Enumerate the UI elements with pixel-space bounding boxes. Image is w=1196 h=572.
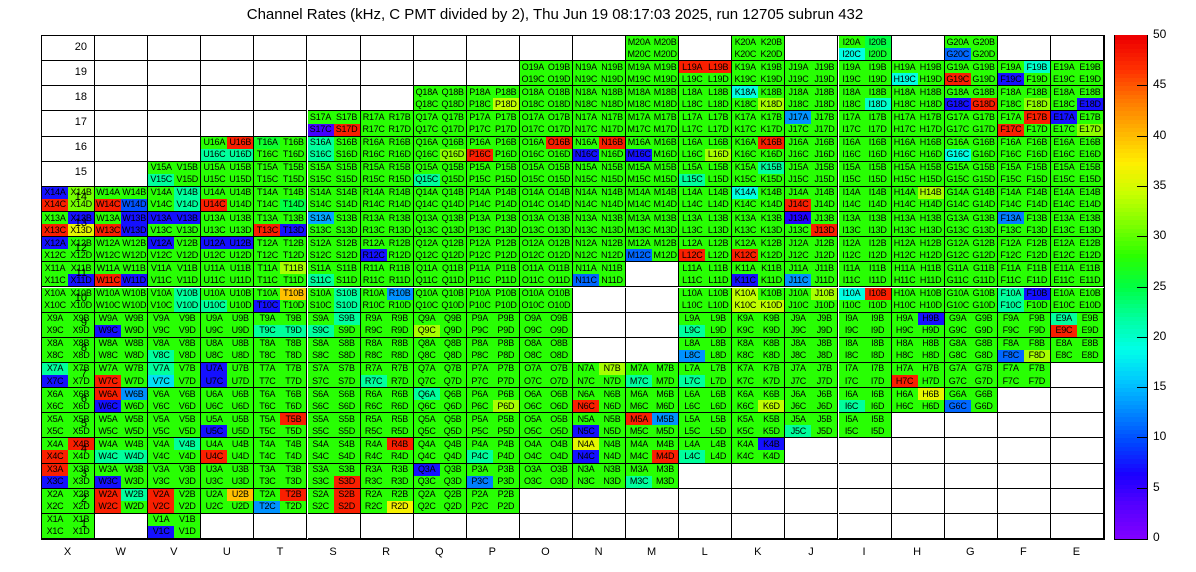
channel-S3A: S3A	[308, 464, 334, 476]
heatmap-cell-Q10: Q10AQ10BQ10CQ10D	[414, 288, 467, 313]
channel-P2C: P2C	[467, 501, 493, 513]
channel-G18B: G18B	[971, 86, 997, 98]
channel-K20D: K20D	[758, 48, 784, 60]
channel-T8D: T8D	[280, 350, 306, 362]
channel-K18B: K18B	[758, 86, 784, 98]
heatmap-cell-S15: S15AS15BS15CS15D	[308, 162, 361, 187]
channel-I19C: I19C	[839, 73, 865, 85]
heatmap-cell-S11: S11AS11BS11CS11D	[308, 262, 361, 287]
channel-O7A: O7A	[520, 363, 546, 375]
heatmap-cell-F6	[998, 388, 1051, 413]
channel-E9A: E9A	[1051, 313, 1077, 325]
channel-F13C: F13C	[998, 224, 1024, 236]
channel-W7D: W7D	[121, 375, 147, 387]
channel-M13D: M13D	[652, 224, 678, 236]
x-axis-tick-J: J	[784, 546, 837, 558]
channel-O15C: O15C	[520, 174, 546, 186]
channel-U5D: U5D	[227, 425, 253, 437]
channel-J10B: J10B	[811, 288, 837, 300]
channel-J13B: J13B	[811, 212, 837, 224]
channel-H15B: H15B	[918, 162, 944, 174]
heatmap-cell-O14: O14AO14BO14CO14D	[520, 187, 573, 212]
channel-I19D: I19D	[865, 73, 891, 85]
channel-K18A: K18A	[732, 86, 758, 98]
channel-Q2B: Q2B	[440, 489, 466, 501]
channel-U7B: U7B	[227, 363, 253, 375]
channel-E13A: E13A	[1051, 212, 1077, 224]
channel-L4D: L4D	[705, 450, 731, 462]
channel-O16C: O16C	[520, 149, 546, 161]
channel-T2B: T2B	[280, 489, 306, 501]
channel-S8A: S8A	[308, 338, 334, 350]
channel-J7B: J7B	[811, 363, 837, 375]
channel-I13B: I13B	[865, 212, 891, 224]
heatmap-cell-R18	[361, 86, 414, 111]
channel-I11C: I11C	[839, 274, 865, 286]
y-axis-tick-9: 9	[57, 317, 87, 329]
colorbar-tick	[1137, 337, 1148, 338]
channel-U7C: U7C	[201, 375, 227, 387]
channel-J6C: J6C	[785, 400, 811, 412]
channel-P15A: P15A	[467, 162, 493, 174]
heatmap-cell-H11: H11AH11BH11CH11D	[892, 262, 945, 287]
channel-U12B: U12B	[227, 237, 253, 249]
channel-Q5D: Q5D	[440, 425, 466, 437]
channel-K11C: K11C	[732, 274, 758, 286]
channel-G14D: G14D	[971, 199, 997, 211]
channel-O3D: O3D	[546, 476, 572, 488]
channel-F17C: F17C	[998, 124, 1024, 136]
channel-T9B: T9B	[280, 313, 306, 325]
channel-W4A: W4A	[95, 438, 121, 450]
heatmap-cell-T19	[254, 61, 307, 86]
heatmap-cell-O8: O8AO8BO8CO8D	[520, 338, 573, 363]
channel-F14B: F14B	[1024, 187, 1050, 199]
colorbar-tick-label-30: 30	[1153, 228, 1166, 242]
channel-F10C: F10C	[998, 300, 1024, 312]
channel-Q3A: Q3A	[414, 464, 440, 476]
heatmap-cell-M20: M20AM20BM20CM20D	[626, 36, 679, 61]
channel-E18C: E18C	[1051, 98, 1077, 110]
heatmap-cell-P10: P10AP10BP10CP10D	[467, 288, 520, 313]
channel-V15C: V15C	[148, 174, 174, 186]
channel-K19A: K19A	[732, 61, 758, 73]
channel-Q5A: Q5A	[414, 413, 440, 425]
channel-F8A: F8A	[998, 338, 1024, 350]
channel-V10A: V10A	[148, 288, 174, 300]
channel-Q16C: Q16C	[414, 149, 440, 161]
channel-L17B: L17B	[705, 111, 731, 123]
channel-N3B: N3B	[599, 464, 625, 476]
heatmap-cell-U20	[201, 36, 254, 61]
channel-N18B: N18B	[599, 86, 625, 98]
channel-J11D: J11D	[811, 274, 837, 286]
channel-I12C: I12C	[839, 249, 865, 261]
channel-J5C: J5C	[785, 425, 811, 437]
channel-U13D: U13D	[227, 224, 253, 236]
channel-F11B: F11B	[1024, 262, 1050, 274]
channel-M17C: M17C	[626, 124, 652, 136]
heatmap-cell-H16: H16AH16BH16CH16D	[892, 137, 945, 162]
heatmap-cell-N13: N13AN13BN13CN13D	[573, 212, 626, 237]
channel-I12B: I12B	[865, 237, 891, 249]
channel-R4D: R4D	[387, 450, 413, 462]
channel-E9D: E9D	[1077, 325, 1103, 337]
channel-F18A: F18A	[998, 86, 1024, 98]
heatmap-cell-R14: R14AR14BR14CR14D	[361, 187, 414, 212]
heatmap-cell-E7	[1051, 363, 1104, 388]
heatmap-cell-S6: S6AS6BS6CS6D	[308, 388, 361, 413]
channel-T10C: T10C	[254, 300, 280, 312]
heatmap-cell-U3: U3AU3BU3CU3D	[201, 464, 254, 489]
channel-R6A: R6A	[361, 388, 387, 400]
channel-I10D: I10D	[865, 300, 891, 312]
channel-G17D: G17D	[971, 124, 997, 136]
channel-F13D: F13D	[1024, 224, 1050, 236]
channel-M12D: M12D	[652, 249, 678, 261]
x-axis-tick-R: R	[360, 546, 413, 558]
channel-L8C: L8C	[679, 350, 705, 362]
channel-S7D: S7D	[334, 375, 360, 387]
channel-T4B: T4B	[280, 438, 306, 450]
heatmap-cell-G5	[945, 413, 998, 438]
channel-I15D: I15D	[865, 174, 891, 186]
channel-P4D: P4D	[493, 450, 519, 462]
channel-I13A: I13A	[839, 212, 865, 224]
heatmap-cell-L10: L10AL10BL10CL10D	[679, 288, 732, 313]
channel-K13A: K13A	[732, 212, 758, 224]
channel-I20A: I20A	[839, 36, 865, 48]
channel-R7D: R7D	[387, 375, 413, 387]
heatmap-cell-K19: K19AK19BK19CK19D	[732, 61, 785, 86]
channel-R5A: R5A	[361, 413, 387, 425]
channel-N5B: N5B	[599, 413, 625, 425]
channel-M14B: M14B	[652, 187, 678, 199]
channel-J15B: J15B	[811, 162, 837, 174]
channel-U4B: U4B	[227, 438, 253, 450]
heatmap-cell-N10	[573, 288, 626, 313]
heatmap-cell-S17: S17AS17BS17CS17D	[308, 111, 361, 136]
channel-R13A: R13A	[361, 212, 387, 224]
heatmap-cell-P12: P12AP12BP12CP12D	[467, 237, 520, 262]
heatmap-cell-M11	[626, 262, 679, 287]
channel-G11B: G11B	[971, 262, 997, 274]
channel-I20D: I20D	[865, 48, 891, 60]
channel-G12D: G12D	[971, 249, 997, 261]
heatmap-cell-K12: K12AK12BK12CK12D	[732, 237, 785, 262]
channel-K13D: K13D	[758, 224, 784, 236]
channel-S7C: S7C	[308, 375, 334, 387]
channel-H19B: H19B	[918, 61, 944, 73]
channel-K18D: K18D	[758, 98, 784, 110]
heatmap-cell-I12: I12AI12BI12CI12D	[839, 237, 892, 262]
channel-M13C: M13C	[626, 224, 652, 236]
channel-K10C: K10C	[732, 300, 758, 312]
heatmap-cell-K6: K6AK6BK6CK6D	[732, 388, 785, 413]
heatmap-cell-W16	[95, 137, 148, 162]
channel-W6B: W6B	[121, 388, 147, 400]
channel-I17D: I17D	[865, 124, 891, 136]
channel-H10C: H10C	[892, 300, 918, 312]
channel-Q3D: Q3D	[440, 476, 466, 488]
heatmap-cell-O6: O6AO6BO6CO6D	[520, 388, 573, 413]
channel-L5C: L5C	[679, 425, 705, 437]
heatmap-cell-I18: I18AI18BI18CI18D	[839, 86, 892, 111]
channel-L4A: L4A	[679, 438, 705, 450]
channel-M15A: M15A	[626, 162, 652, 174]
channel-R17A: R17A	[361, 111, 387, 123]
channel-T10B: T10B	[280, 288, 306, 300]
channel-L16C: L16C	[679, 149, 705, 161]
channel-P4C: P4C	[467, 450, 493, 462]
heatmap-cell-L12: L12AL12BL12CL12D	[679, 237, 732, 262]
channel-E11C: E11C	[1051, 274, 1077, 286]
channel-V10D: V10D	[174, 300, 200, 312]
channel-M12B: M12B	[652, 237, 678, 249]
channel-M5A: M5A	[626, 413, 652, 425]
channel-R6B: R6B	[387, 388, 413, 400]
heatmap-cell-T8: T8AT8BT8CT8D	[254, 338, 307, 363]
channel-P10B: P10B	[493, 288, 519, 300]
channel-S6B: S6B	[334, 388, 360, 400]
channel-F11A: F11A	[998, 262, 1024, 274]
channel-T12C: T12C	[254, 249, 280, 261]
heatmap-cell-K7: K7AK7BK7CK7D	[732, 363, 785, 388]
channel-H11C: H11C	[892, 274, 918, 286]
channel-V8C: V8C	[148, 350, 174, 362]
channel-F16A: F16A	[998, 137, 1024, 149]
channel-T7A: T7A	[254, 363, 280, 375]
y-axis-tick-17: 17	[57, 116, 87, 128]
channel-I17A: I17A	[839, 111, 865, 123]
heatmap-cell-M9	[626, 313, 679, 338]
heatmap-cell-G15: G15AG15BG15CG15D	[945, 162, 998, 187]
channel-E17B: E17B	[1077, 111, 1103, 123]
channel-P10C: P10C	[467, 300, 493, 312]
channel-K12C: K12C	[732, 249, 758, 261]
channel-W12D: W12D	[121, 249, 147, 261]
channel-E10D: E10D	[1077, 300, 1103, 312]
channel-U8B: U8B	[227, 338, 253, 350]
heatmap-cell-O9: O9AO9BO9CO9D	[520, 313, 573, 338]
heatmap-cell-J12: J12AJ12BJ12CJ12D	[785, 237, 838, 262]
heatmap-cell-O13: O13AO13BO13CO13D	[520, 212, 573, 237]
channel-R2C: R2C	[361, 501, 387, 513]
channel-K17D: K17D	[758, 124, 784, 136]
channel-L13D: L13D	[705, 224, 731, 236]
channel-T6B: T6B	[280, 388, 306, 400]
channel-F12B: F12B	[1024, 237, 1050, 249]
channel-R4C: R4C	[361, 450, 387, 462]
channel-O14B: O14B	[546, 187, 572, 199]
heatmap-cell-R7: R7AR7BR7CR7D	[361, 363, 414, 388]
channel-Q12A: Q12A	[414, 237, 440, 249]
channel-J10A: J10A	[785, 288, 811, 300]
heatmap-cell-W10: W10AW10BW10CW10D	[95, 288, 148, 313]
channel-L5B: L5B	[705, 413, 731, 425]
heatmap-cell-J4	[785, 438, 838, 463]
channel-K6B: K6B	[758, 388, 784, 400]
channel-S3C: S3C	[308, 476, 334, 488]
channel-U7D: U7D	[227, 375, 253, 387]
channel-M16A: M16A	[626, 137, 652, 149]
channel-N12A: N12A	[573, 237, 599, 249]
channel-L18B: L18B	[705, 86, 731, 98]
channel-U2C: U2C	[201, 501, 227, 513]
channel-N14B: N14B	[599, 187, 625, 199]
channel-H16D: H16D	[918, 149, 944, 161]
channel-V5C: V5C	[148, 425, 174, 437]
heatmap-cell-L17: L17AL17BL17CL17D	[679, 111, 732, 136]
channel-F10B: F10B	[1024, 288, 1050, 300]
heatmap-cell-P15: P15AP15BP15CP15D	[467, 162, 520, 187]
channel-N14D: N14D	[599, 199, 625, 211]
channel-O4A: O4A	[520, 438, 546, 450]
channel-U4D: U4D	[227, 450, 253, 462]
channel-V14B: V14B	[174, 187, 200, 199]
channel-V3B: V3B	[174, 464, 200, 476]
heatmap-cell-Q18: Q18AQ18BQ18CQ18D	[414, 86, 467, 111]
heatmap-cell-G2	[945, 489, 998, 514]
channel-M19D: M19D	[652, 73, 678, 85]
channel-R8D: R8D	[387, 350, 413, 362]
heatmap-cell-P18: P18AP18BP18CP18D	[467, 86, 520, 111]
channel-U11D: U11D	[227, 274, 253, 286]
channel-U3B: U3B	[227, 464, 253, 476]
channel-S13C: S13C	[308, 224, 334, 236]
channel-M3B: M3B	[652, 464, 678, 476]
channel-N6C: N6C	[573, 400, 599, 412]
channel-I17B: I17B	[865, 111, 891, 123]
channel-Q6A: Q6A	[414, 388, 440, 400]
channel-N17B: N17B	[599, 111, 625, 123]
channel-K12D: K12D	[758, 249, 784, 261]
channel-N11C: N11C	[573, 274, 599, 286]
channel-J17A: J17A	[785, 111, 811, 123]
channel-M4C: M4C	[626, 450, 652, 462]
heatmap-cell-M6: M6AM6BM6CM6D	[626, 388, 679, 413]
channel-V12A: V12A	[148, 237, 174, 249]
channel-U15A: U15A	[201, 162, 227, 174]
channel-L19D: L19D	[705, 73, 731, 85]
channel-I16B: I16B	[865, 137, 891, 149]
channel-H8B: H8B	[918, 338, 944, 350]
channel-M20A: M20A	[626, 36, 652, 48]
channel-M5B: M5B	[652, 413, 678, 425]
channel-V14A: V14A	[148, 187, 174, 199]
heatmap-cell-U10: U10AU10BU10CU10D	[201, 288, 254, 313]
channel-T15D: T15D	[280, 174, 306, 186]
channel-W3A: W3A	[95, 464, 121, 476]
channel-E15A: E15A	[1051, 162, 1077, 174]
channel-S9A: S9A	[308, 313, 334, 325]
channel-T15B: T15B	[280, 162, 306, 174]
channel-H8D: H8D	[918, 350, 944, 362]
channel-N6B: N6B	[599, 388, 625, 400]
channel-V11C: V11C	[148, 274, 174, 286]
channel-V2A: V2A	[148, 489, 174, 501]
channel-P12C: P12C	[467, 249, 493, 261]
channel-V7C: V7C	[148, 375, 174, 387]
heatmap-cell-E3	[1051, 464, 1104, 489]
heatmap-cell-J15: J15AJ15BJ15CJ15D	[785, 162, 838, 187]
channel-K8C: K8C	[732, 350, 758, 362]
channel-H8A: H8A	[892, 338, 918, 350]
heatmap-cell-L3	[679, 464, 732, 489]
channel-F11D: F11D	[1024, 274, 1050, 286]
channel-F9B: F9B	[1024, 313, 1050, 325]
channel-L6C: L6C	[679, 400, 705, 412]
channel-H10B: H10B	[918, 288, 944, 300]
channel-U10A: U10A	[201, 288, 227, 300]
channel-E13C: E13C	[1051, 224, 1077, 236]
channel-J19D: J19D	[811, 73, 837, 85]
channel-K20C: K20C	[732, 48, 758, 60]
heatmap-cell-G11: G11AG11BG11CG11D	[945, 262, 998, 287]
channel-S8C: S8C	[308, 350, 334, 362]
channel-J17B: J17B	[811, 111, 837, 123]
heatmap-cell-I1	[839, 514, 892, 539]
channel-O19B: O19B	[546, 61, 572, 73]
channel-I11B: I11B	[865, 262, 891, 274]
channel-U16B: U16B	[227, 137, 253, 149]
channel-P18D: P18D	[493, 98, 519, 110]
channel-S10C: S10C	[308, 300, 334, 312]
channel-H14A: H14A	[892, 187, 918, 199]
channel-L4B: L4B	[705, 438, 731, 450]
heatmap-cell-F9: F9AF9BF9CF9D	[998, 313, 1051, 338]
y-axis-tick-19: 19	[57, 66, 87, 78]
channel-J12D: J12D	[811, 249, 837, 261]
channel-J8C: J8C	[785, 350, 811, 362]
channel-H13C: H13C	[892, 224, 918, 236]
channel-F18D: F18D	[1024, 98, 1050, 110]
channel-J5B: J5B	[811, 413, 837, 425]
channel-R17B: R17B	[387, 111, 413, 123]
channel-U12D: U12D	[227, 249, 253, 261]
channel-V10B: V10B	[174, 288, 200, 300]
channel-Q10B: Q10B	[440, 288, 466, 300]
channel-J19B: J19B	[811, 61, 837, 73]
channel-T4A: T4A	[254, 438, 280, 450]
heatmap-cell-T9: T9AT9BT9CT9D	[254, 313, 307, 338]
channel-I7B: I7B	[865, 363, 891, 375]
channel-V15B: V15B	[174, 162, 200, 174]
channel-R3D: R3D	[387, 476, 413, 488]
channel-R15B: R15B	[387, 162, 413, 174]
channel-H14B: H14B	[918, 187, 944, 199]
channel-N15C: N15C	[573, 174, 599, 186]
channel-K14B: K14B	[758, 187, 784, 199]
channel-M20C: M20C	[626, 48, 652, 60]
channel-R7C: R7C	[361, 375, 387, 387]
channel-V4A: V4A	[148, 438, 174, 450]
channel-H7C: H7C	[892, 375, 918, 387]
channel-P13D: P13D	[493, 224, 519, 236]
channel-G20D: G20D	[971, 48, 997, 60]
channel-E15D: E15D	[1077, 174, 1103, 186]
channel-Q12C: Q12C	[414, 249, 440, 261]
channel-E12D: E12D	[1077, 249, 1103, 261]
page-title: Channel Rates (kHz, C PMT divided by 2),…	[0, 6, 1110, 23]
channel-W13B: W13B	[121, 212, 147, 224]
channel-W8A: W8A	[95, 338, 121, 350]
channel-P17C: P17C	[467, 124, 493, 136]
channel-M7A: M7A	[626, 363, 652, 375]
channel-J13A: J13A	[785, 212, 811, 224]
channel-K16A: K16A	[732, 137, 758, 149]
channel-I9D: I9D	[865, 325, 891, 337]
